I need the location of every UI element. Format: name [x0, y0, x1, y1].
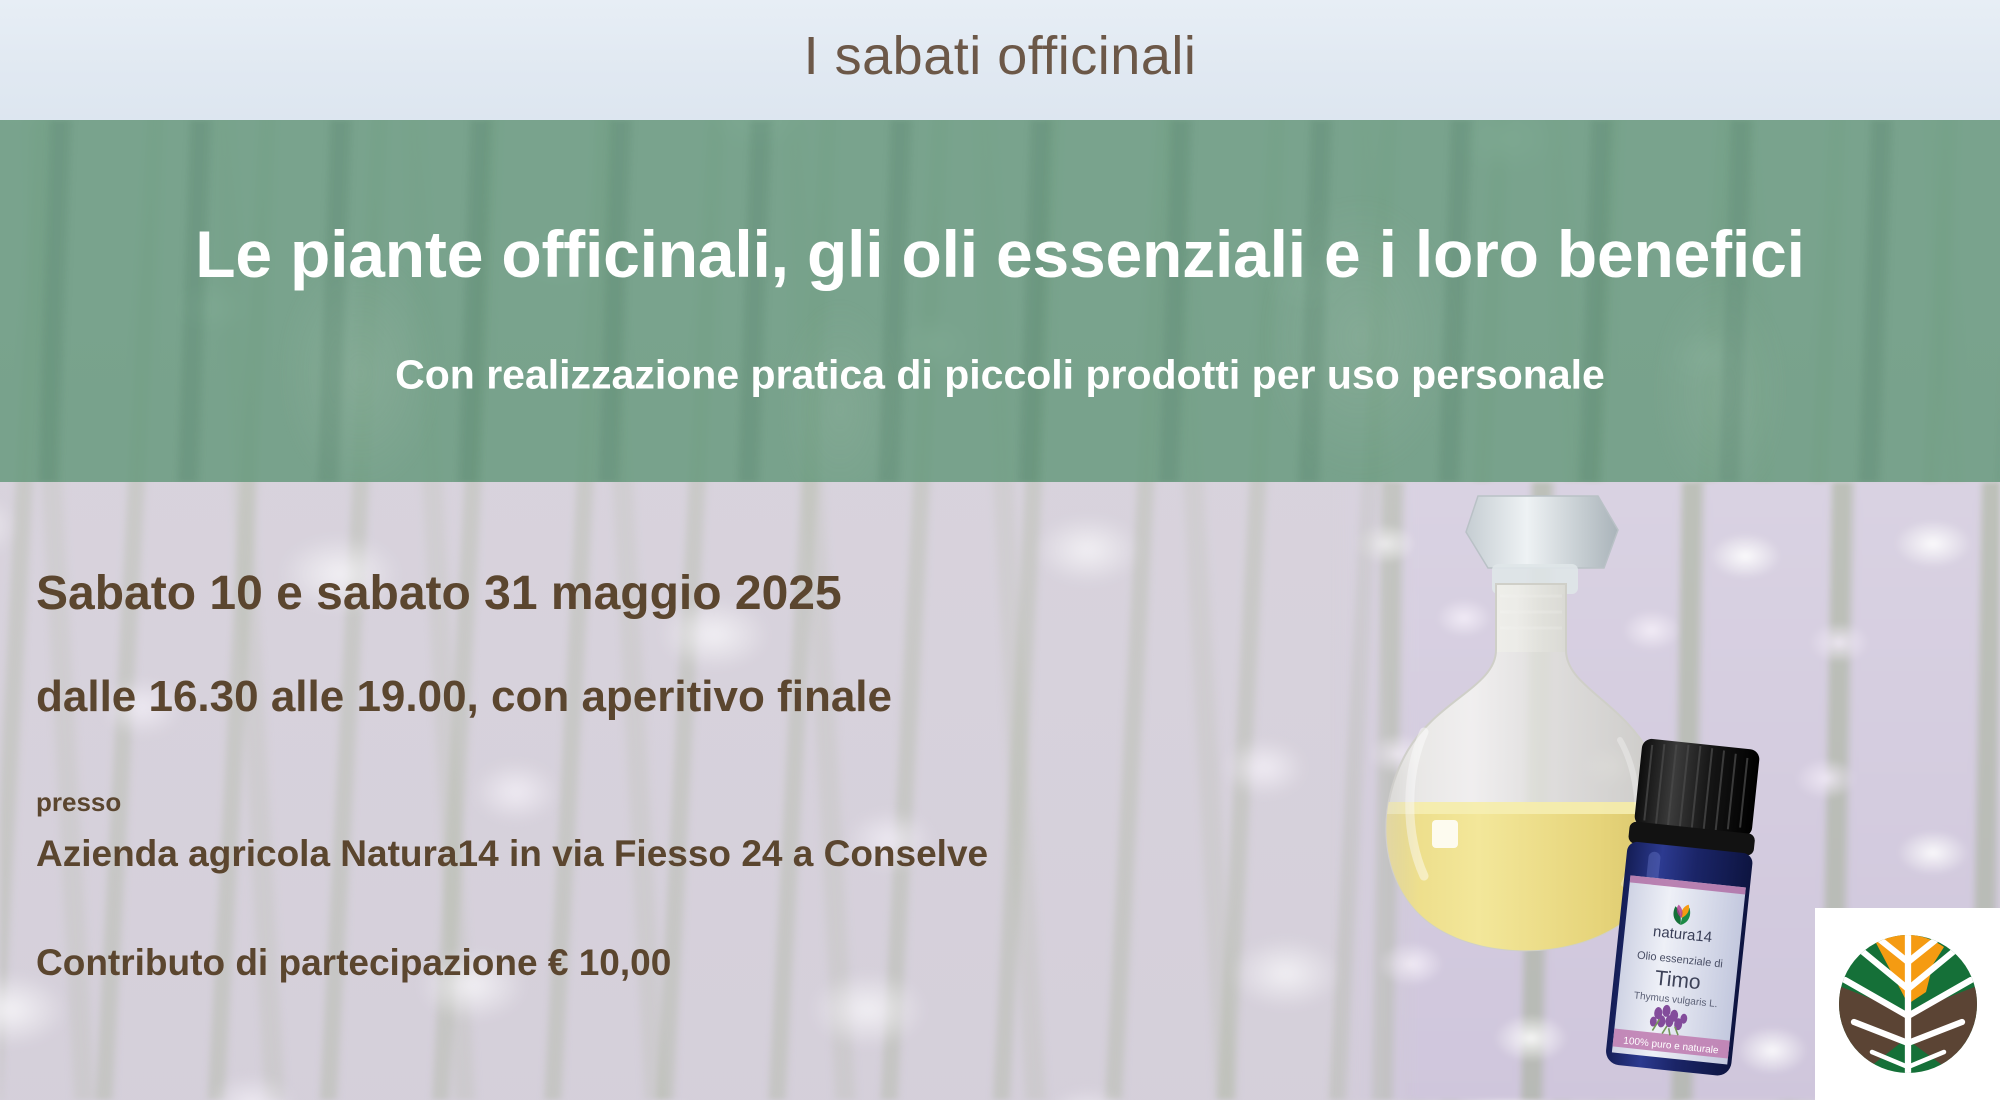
header-strip: I sabati officinali [0, 0, 2000, 120]
venue-label: presso [36, 789, 1296, 815]
natura14-leaf-icon [1833, 929, 1983, 1079]
main-title: Le piante officinali, gli oli essenziali… [0, 221, 2000, 287]
poster-canvas: I sabati officinali Le piante officinali… [0, 0, 2000, 1100]
natura14-logo [1815, 908, 2000, 1100]
event-date: Sabato 10 e sabato 31 maggio 2025 [36, 570, 1296, 618]
event-details: Sabato 10 e sabato 31 maggio 2025 dalle … [36, 500, 1296, 981]
bottle-product: Timo [1654, 967, 1702, 995]
carafe-stopper [1466, 496, 1618, 568]
essential-oil-bottle: natura14 Olio essenziale di Timo Thymus … [1576, 737, 1826, 1100]
participation-fee: Contributo di partecipazione € 10,00 [36, 944, 1296, 981]
event-time: dalle 16.30 alle 19.00, con aperitivo fi… [36, 675, 1296, 719]
oil-bottle-photo-inset: natura14 Olio essenziale di Timo Thymus … [1330, 482, 2000, 1100]
main-subtitle: Con realizzazione pratica di piccoli pro… [0, 355, 2000, 396]
green-title-band: Le piante officinali, gli oli essenziali… [0, 120, 2000, 482]
header-title: I sabati officinali [804, 25, 1197, 87]
venue-address: Azienda agricola Natura14 in via Fiesso … [36, 835, 1296, 872]
